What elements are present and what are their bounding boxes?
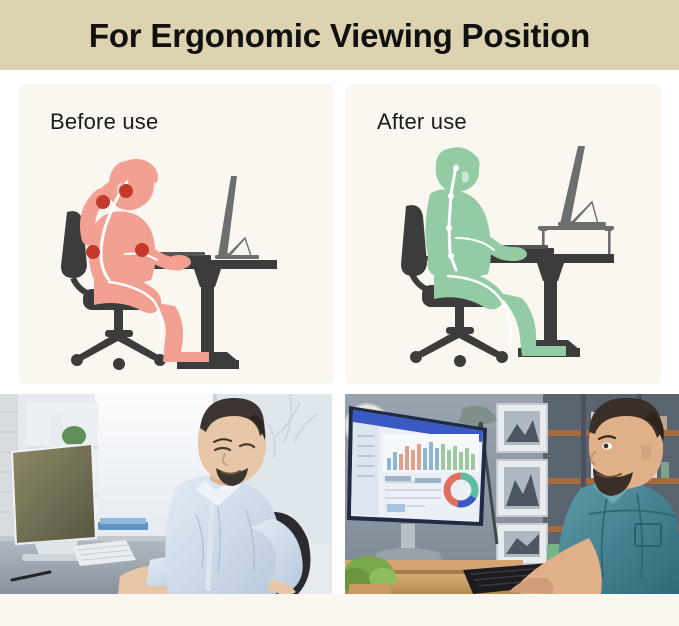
illustration-panels-row: Before use xyxy=(0,84,679,384)
header-banner: For Ergonomic Viewing Position xyxy=(0,0,679,70)
page-title: For Ergonomic Viewing Position xyxy=(89,19,590,52)
monitor-before xyxy=(215,176,259,259)
photo-row xyxy=(0,394,679,594)
panel-photo-gap xyxy=(0,384,679,394)
bottom-strip xyxy=(0,594,679,626)
pain-dot-lower-back xyxy=(86,245,100,259)
photo-before-use xyxy=(0,394,332,594)
framed-pictures xyxy=(497,404,547,564)
pain-dot-shoulder xyxy=(96,195,110,209)
pain-dot-neck xyxy=(119,184,133,198)
panel-before-use: Before use xyxy=(19,84,334,384)
illustration-before-use xyxy=(19,142,334,384)
pain-dot-wrist xyxy=(135,243,149,257)
panel-after-use: After use xyxy=(346,84,661,384)
monitor-after xyxy=(558,146,606,226)
desk-after xyxy=(482,254,614,357)
illustration-after-use xyxy=(346,142,661,384)
panel-before-label: Before use xyxy=(50,109,158,135)
person-before-slouched xyxy=(86,159,209,362)
panel-after-label: After use xyxy=(377,109,467,135)
photo-after-use xyxy=(345,394,679,594)
